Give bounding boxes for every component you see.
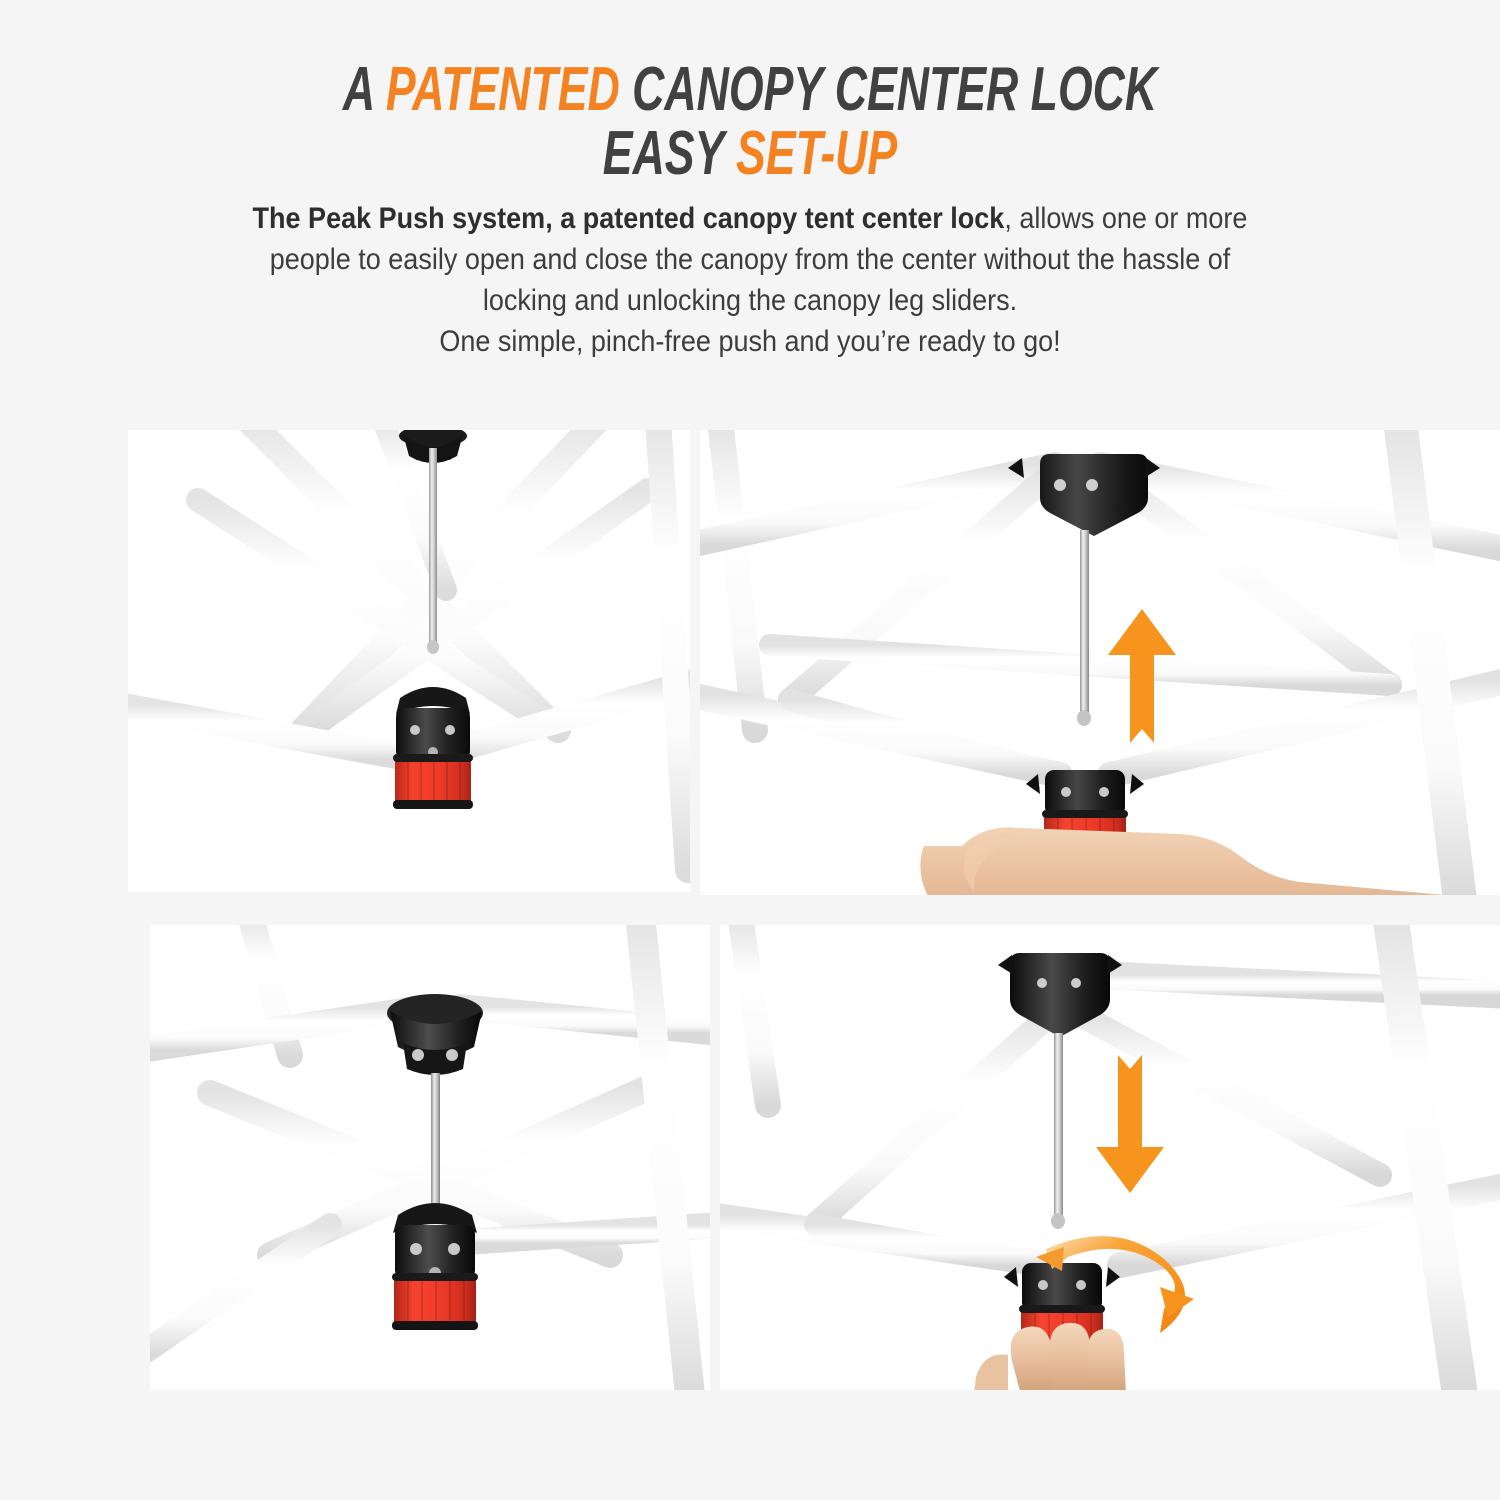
hand-twisting-lock-down-illustration [720,925,1500,1390]
black-center-lock [393,1203,477,1279]
description-line-1: The Peak Push system, a patented canopy … [156,198,1344,239]
description-lead: The Peak Push system, a patented canopy … [253,202,1005,235]
header-section: A PATENTED CANOPY CENTER LOCK EASY SET-U… [0,0,1500,400]
panel-bottom-right [720,925,1500,1390]
title-part-easy: EASY [603,119,736,188]
panel-top-right [700,430,1500,895]
page-title-line-2: EASY SET-UP [210,122,1290,186]
black-center-lock [396,687,470,760]
title-part-canopy: CANOPY CENTER LOCK [620,55,1157,124]
canopy-frame-locked-illustration [150,925,710,1390]
title-part-patented: PATENTED [386,55,620,124]
description-paragraph: The Peak Push system, a patented canopy … [90,198,1410,362]
title-part-setup: SET-UP [736,119,897,188]
description-line-2: people to easily open and close the cano… [156,239,1344,280]
description-line-1-rest: , allows one or more [1004,202,1247,235]
panel-top-left [128,430,690,892]
panel-bottom-left [150,925,710,1390]
hand-pushing-lock-up-illustration [700,430,1500,895]
canopy-frame-extended-rod-illustration [128,430,690,892]
red-lock-collar [392,1273,478,1330]
page-title-line-1: A PATENTED CANOPY CENTER LOCK [210,58,1290,122]
title-part-a: A [343,55,386,124]
description-line-3: locking and unlocking the canopy leg sli… [156,280,1344,321]
chrome-push-rod [431,1073,440,1213]
red-lock-collar [393,754,473,809]
description-line-4: One simple, pinch-free push and you’re r… [156,321,1344,362]
